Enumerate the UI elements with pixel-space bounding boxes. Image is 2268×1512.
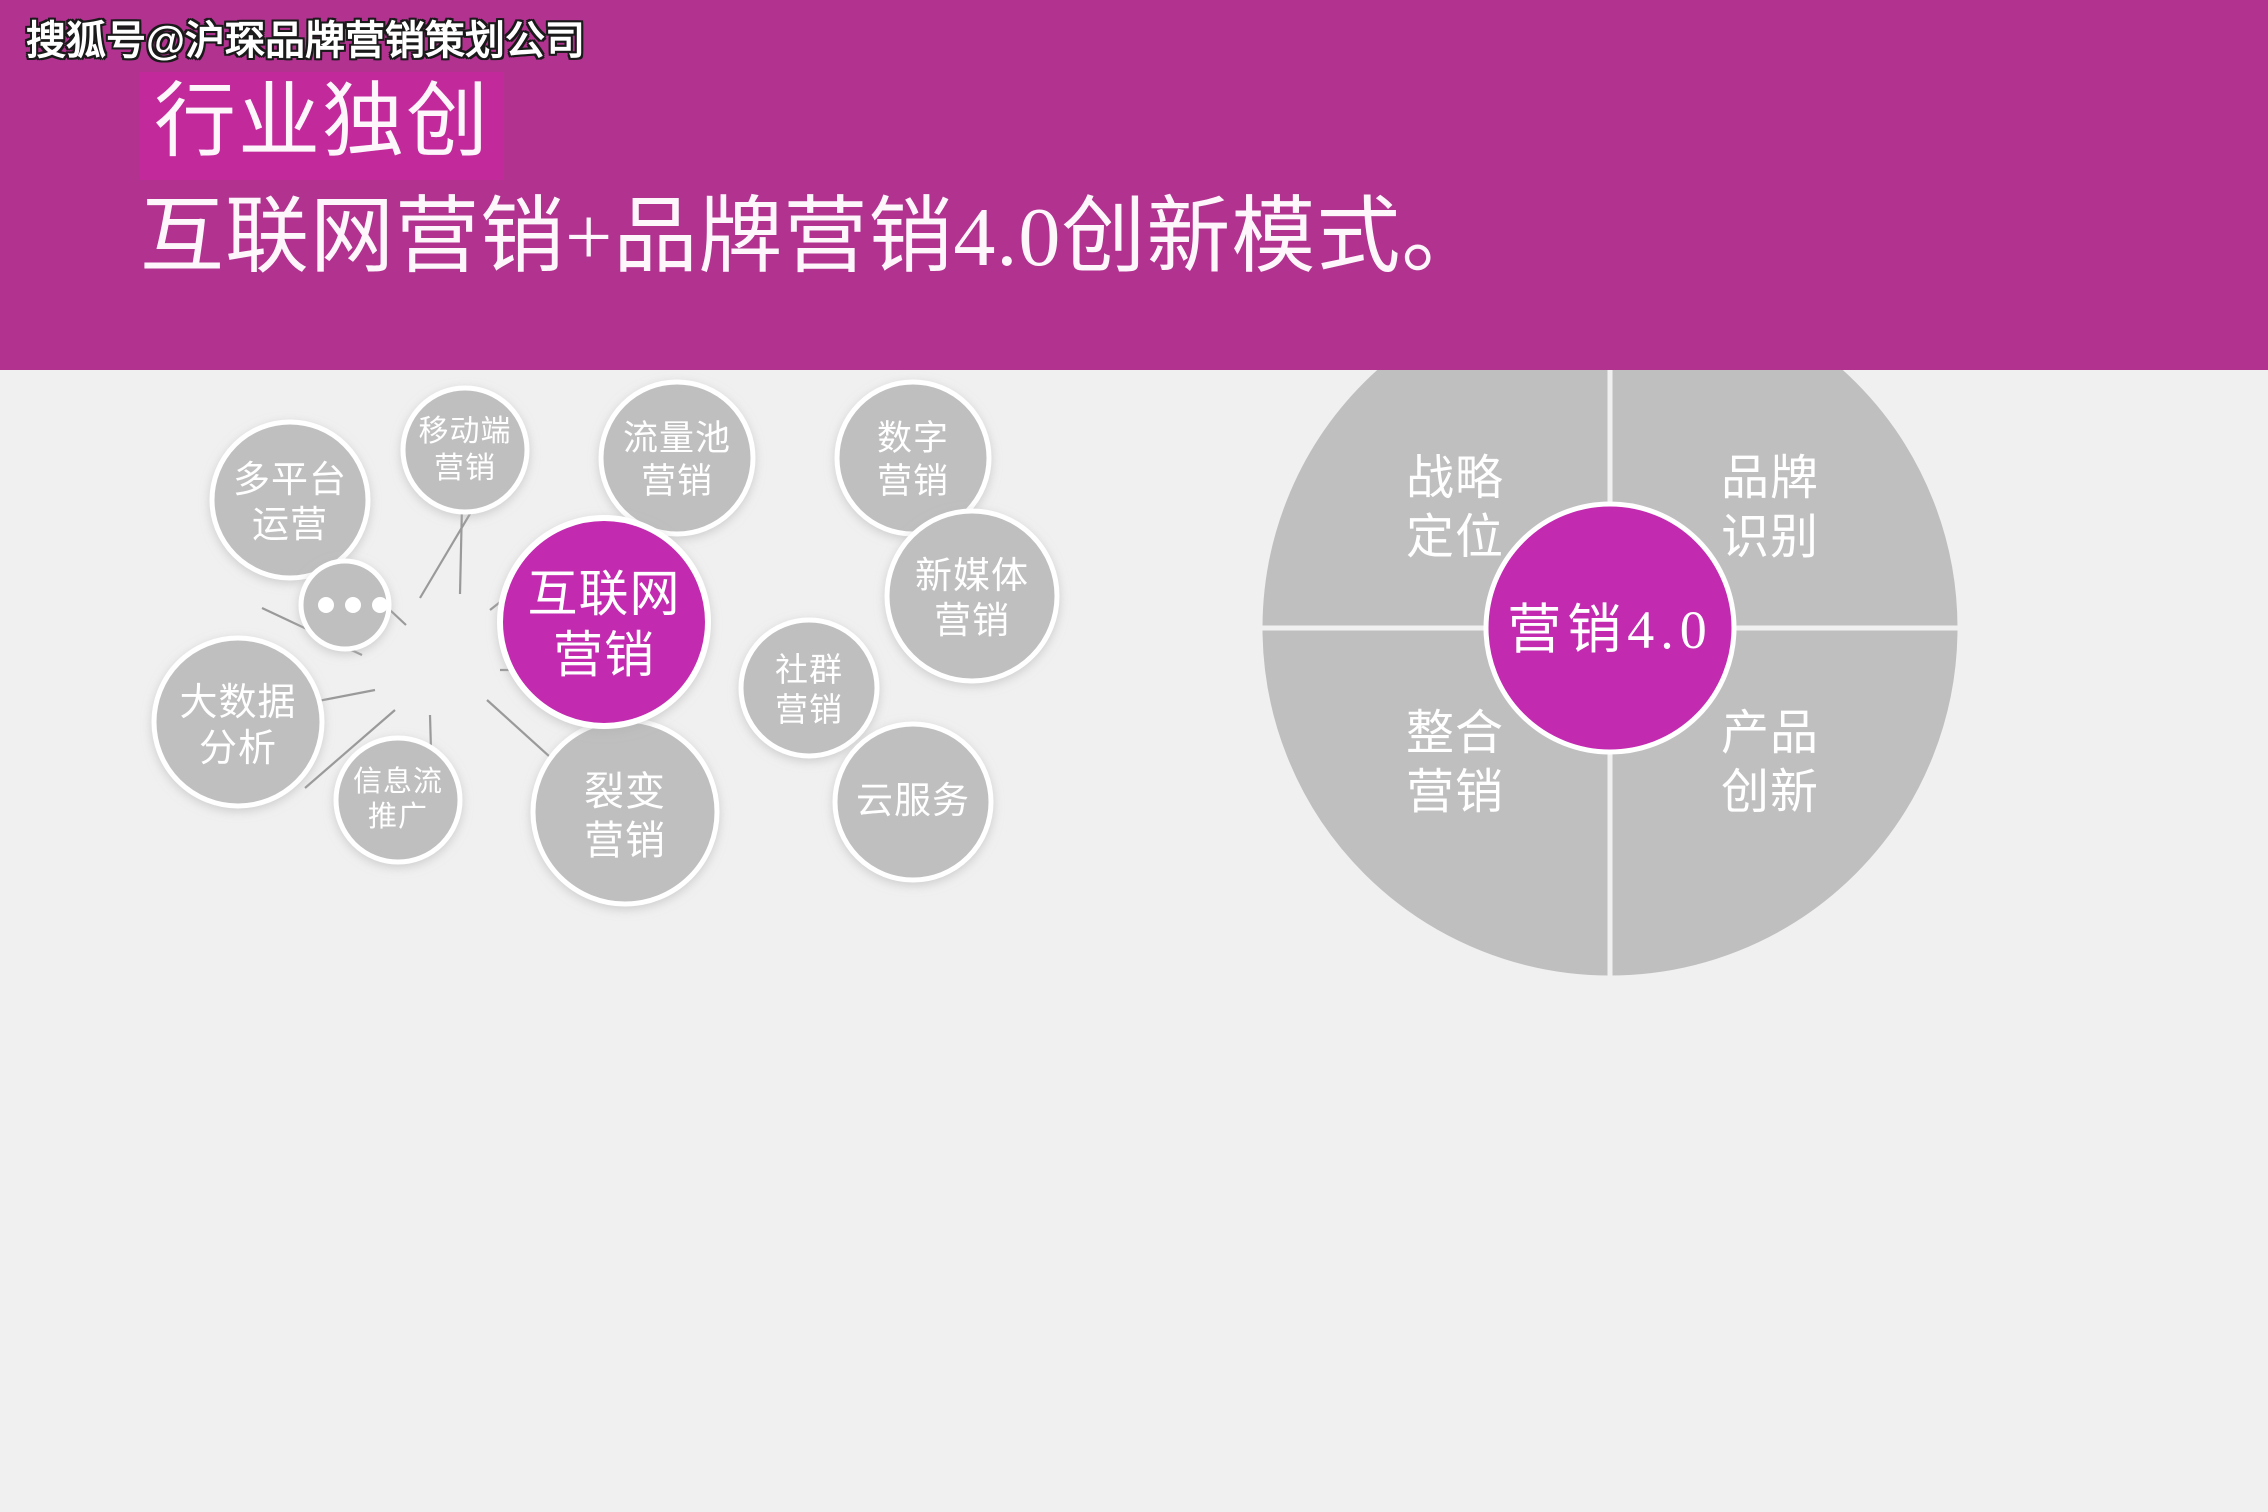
title-block: 行业独创 互联网营销+品牌营销4.0创新模式。 [140, 72, 1486, 286]
watermark-text: 搜狐号@沪琛品牌营销策划公司 [26, 8, 585, 66]
ellipsis-dot-icon [318, 597, 334, 613]
header-banner: 搜狐号@沪琛品牌营销策划公司 行业独创 互联网营销+品牌营销4.0创新模式。 [0, 0, 2268, 370]
node-big-data-analysis [154, 638, 322, 806]
diagram-stage: 多平台 运营 移动端 营销 流量池 营销 数字 营销 新媒体 营销 社群 营销 … [0, 370, 2268, 1512]
node-internet-marketing-center [500, 518, 708, 726]
mindmap-nodes [154, 382, 1057, 904]
node-multi-platform-operation [212, 422, 368, 578]
node-cloud-service [835, 724, 991, 880]
diagram-canvas [0, 370, 2268, 1512]
node-new-media-marketing [887, 511, 1057, 681]
ellipsis-dot-icon [345, 597, 361, 613]
title-highlight: 行业独创 [140, 72, 504, 180]
title-main: 互联网营销+品牌营销4.0创新模式。 [140, 190, 1486, 286]
donut-center-hub [1486, 504, 1734, 752]
node-community-marketing [741, 620, 877, 756]
node-mobile-marketing [403, 388, 527, 512]
ellipsis-dot-icon [372, 597, 388, 613]
donut-chart [1260, 370, 1960, 978]
node-info-flow-promotion [336, 738, 460, 862]
node-label-more-ellipsis [318, 597, 388, 613]
node-fission-marketing [533, 720, 717, 904]
node-traffic-pool-marketing [601, 382, 753, 534]
